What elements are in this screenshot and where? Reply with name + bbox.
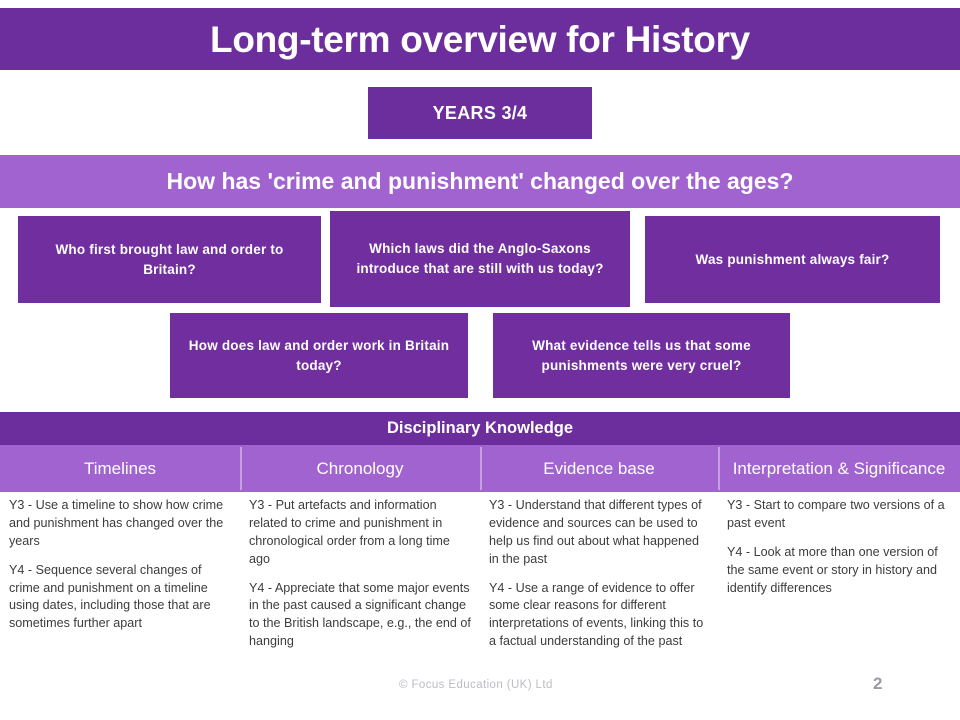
question-box-5: What evidence tells us that some punishm… xyxy=(493,313,790,398)
question-box-2: Which laws did the Anglo-Saxons introduc… xyxy=(330,211,630,307)
table-cell-evidence-base: Y3 - Understand that different types of … xyxy=(480,492,718,672)
table-header-row: Timelines Chronology Evidence base Inter… xyxy=(0,445,960,492)
question-box-3: Was punishment always fair? xyxy=(645,216,940,303)
year-group-tab: YEARS 3/4 xyxy=(368,87,592,139)
footer-page-number: 2 xyxy=(873,674,882,694)
objective-y4: Y4 - Use a range of evidence to offer so… xyxy=(489,580,709,652)
question-box-4: How does law and order work in Britain t… xyxy=(170,313,468,398)
objective-y4: Y4 - Look at more than one version of th… xyxy=(727,544,951,598)
column-header-chronology: Chronology xyxy=(240,445,480,492)
objective-y3: Y3 - Understand that different types of … xyxy=(489,497,709,569)
column-header-interpretation-significance: Interpretation & Significance xyxy=(718,445,960,492)
footer-copyright: © Focus Education (UK) Ltd xyxy=(399,679,553,691)
table-body-row: Y3 - Use a timeline to show how crime an… xyxy=(0,492,960,672)
enquiry-question-banner: How has 'crime and punishment' changed o… xyxy=(0,155,960,208)
table-cell-chronology: Y3 - Put artefacts and information relat… xyxy=(240,492,480,672)
objective-y3: Y3 - Start to compare two versions of a … xyxy=(727,497,951,533)
disciplinary-knowledge-title: Disciplinary Knowledge xyxy=(387,419,573,438)
page-title: Long-term overview for History xyxy=(210,21,750,58)
objective-y4: Y4 - Appreciate that some major events i… xyxy=(249,580,471,652)
column-header-timelines: Timelines xyxy=(0,445,240,492)
title-banner: Long-term overview for History xyxy=(0,8,960,70)
objective-y3: Y3 - Use a timeline to show how crime an… xyxy=(9,497,231,551)
table-cell-timelines: Y3 - Use a timeline to show how crime an… xyxy=(0,492,240,672)
table-cell-interpretation-significance: Y3 - Start to compare two versions of a … xyxy=(718,492,960,672)
slide-canvas: Long-term overview for History YEARS 3/4… xyxy=(0,0,960,720)
column-header-evidence-base: Evidence base xyxy=(480,445,718,492)
year-group-label: YEARS 3/4 xyxy=(433,103,528,124)
disciplinary-knowledge-band: Disciplinary Knowledge xyxy=(0,412,960,445)
question-box-1: Who first brought law and order to Brita… xyxy=(18,216,321,303)
objective-y4: Y4 - Sequence several changes of crime a… xyxy=(9,562,231,634)
objective-y3: Y3 - Put artefacts and information relat… xyxy=(249,497,471,569)
enquiry-question-label: How has 'crime and punishment' changed o… xyxy=(167,168,794,195)
disciplinary-knowledge-table: Timelines Chronology Evidence base Inter… xyxy=(0,445,960,672)
